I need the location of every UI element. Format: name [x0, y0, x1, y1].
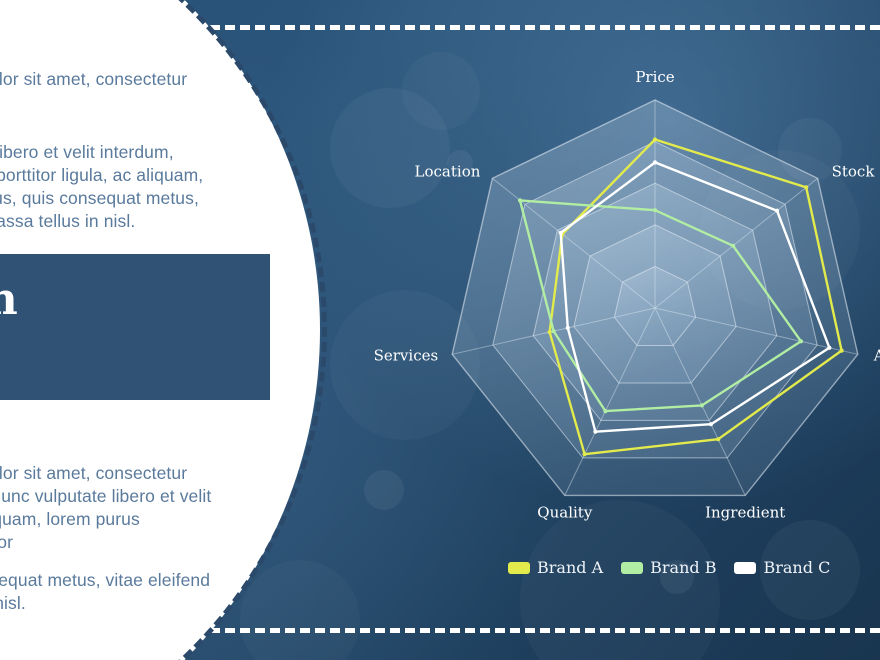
radar-data-point: [653, 160, 657, 164]
legend-item-brand-a[interactable]: Brand A: [508, 558, 603, 577]
radar-data-point: [593, 430, 597, 434]
radar-data-point: [709, 422, 713, 426]
legend-item-brand-b[interactable]: Brand B: [621, 558, 716, 577]
radar-data-point: [518, 198, 522, 202]
radar-data-point: [603, 409, 607, 413]
legend-swatch-icon: [734, 562, 756, 574]
page-title-line-2: of Stores: [0, 326, 270, 378]
radar-data-point: [552, 329, 556, 333]
legend-swatch-icon: [508, 562, 530, 574]
axis-label-quality: Quality: [537, 503, 593, 521]
radar-data-point: [653, 137, 657, 141]
radar-data-point: [548, 330, 552, 334]
axis-label-services: Services: [374, 346, 439, 364]
body-paragraph-2: Nunc vulputate libero et velit interdum,…: [0, 141, 212, 233]
legend-label: Brand A: [537, 558, 603, 577]
body-paragraph-4: ligula, quis consequat metus, vitae elei…: [0, 569, 212, 615]
axis-label-ingredient: Ingredient: [705, 503, 785, 521]
radar-data-point: [583, 452, 587, 456]
axis-label-stock: Stock: [832, 162, 876, 180]
radar-data-point: [700, 403, 704, 407]
legend-swatch-icon: [621, 562, 643, 574]
chart-legend: Brand A Brand B Brand C: [508, 558, 830, 577]
radar-data-point: [827, 346, 831, 350]
axis-label-location: Location: [415, 162, 481, 180]
page-title-line-1: Comparison: [0, 254, 270, 326]
axis-label-assortment: Assortment: [873, 346, 880, 364]
radar-chart: PriceStockAssortmentIngredientQualitySer…: [370, 40, 880, 540]
slide-canvas: Lorem ipsum dolor sit amet, consectetur …: [0, 0, 880, 660]
axis-label-price: Price: [635, 68, 674, 86]
radar-data-point: [653, 208, 657, 212]
legend-item-brand-c[interactable]: Brand C: [734, 558, 830, 577]
body-paragraph-3: Lorem ipsum dolor sit amet, consectetur …: [0, 462, 212, 554]
radar-data-point: [799, 339, 803, 343]
legend-label: Brand B: [650, 558, 716, 577]
radar-data-point: [559, 231, 563, 235]
radar-data-point: [731, 244, 735, 248]
radar-data-point: [775, 209, 779, 213]
bokeh-circle: [240, 560, 360, 660]
title-block: Comparison of Stores: [0, 254, 270, 400]
legend-label: Brand C: [763, 558, 830, 577]
radar-data-point: [716, 437, 720, 441]
radar-data-point: [566, 326, 570, 330]
radar-chart-svg: PriceStockAssortmentIngredientQualitySer…: [370, 40, 880, 540]
radar-data-point: [804, 185, 808, 189]
body-paragraph-1: Lorem ipsum dolor sit amet, consectetur …: [0, 68, 212, 114]
radar-data-point: [840, 349, 844, 353]
